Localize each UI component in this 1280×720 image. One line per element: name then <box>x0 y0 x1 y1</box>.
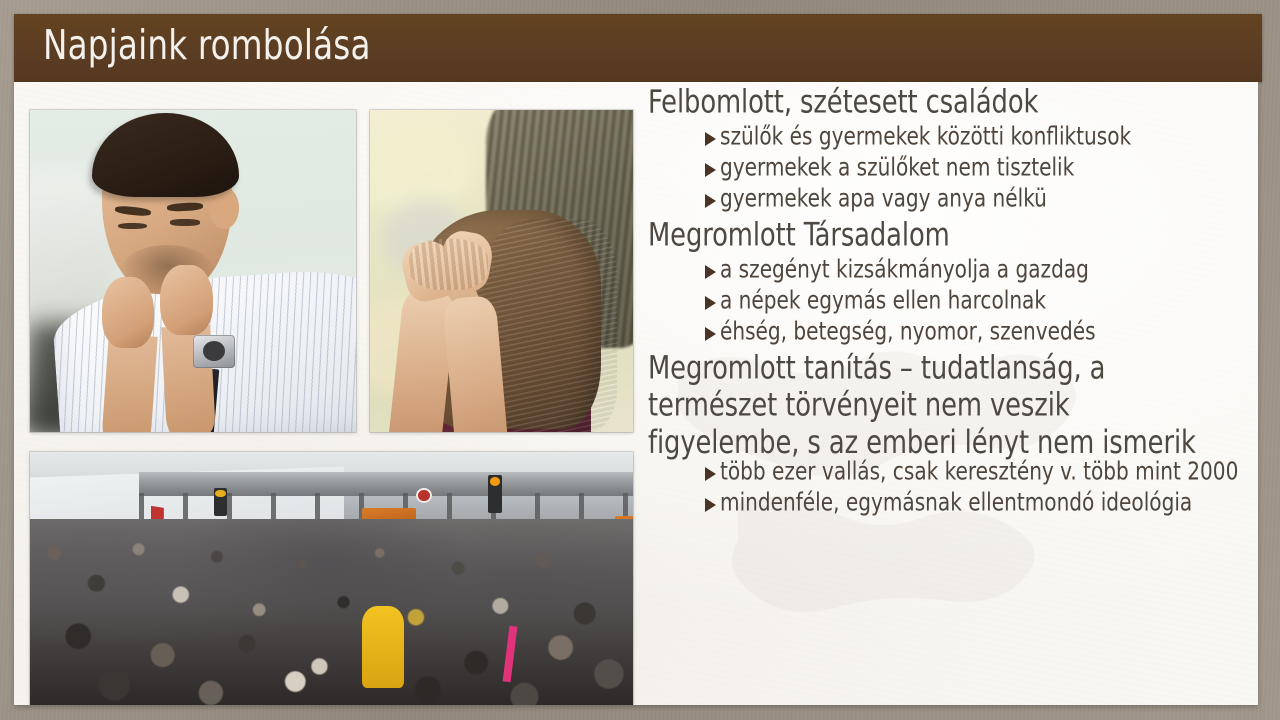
list-item: mindenféle, egymásnak ellentmondó ideoló… <box>648 487 1252 518</box>
bullet-text: éhség, betegség, nyomor, szenvedés <box>720 315 1096 348</box>
winter-crowd-photo: СТОП <box>30 452 633 705</box>
bullet-text: gyermekek a szülőket nem tisztelik <box>720 151 1074 184</box>
block-heading: Felbomlott, szétesett családok <box>648 84 1216 122</box>
triangle-bullet-icon <box>705 163 716 177</box>
triangle-bullet-icon <box>705 194 716 208</box>
list-item: éhség, betegség, nyomor, szenvedés <box>648 316 1252 347</box>
list-item: gyermekek a szülőket nem tisztelik <box>648 152 1252 183</box>
distressed-woman-photo <box>370 110 633 432</box>
triangle-bullet-icon <box>705 296 716 310</box>
page-title: Napjaink rombolása <box>43 22 371 70</box>
slide-content-area: СТОП Felbomlott, szétesett családok szül… <box>14 82 1258 705</box>
block-heading: Megromlott Társadalom <box>648 217 1216 255</box>
bullet-list: több ezer vallás, csak keresztény v. töb… <box>648 456 1252 518</box>
bullet-text: a szegényt kizsákmányolja a gazdag <box>720 253 1089 286</box>
content-block: Felbomlott, szétesett családok szülők és… <box>648 84 1252 214</box>
list-item: a szegényt kizsákmányolja a gazdag <box>648 254 1252 285</box>
eye-right <box>170 219 199 225</box>
bullet-list: a szegényt kizsákmányolja a gazdag a nép… <box>648 254 1252 347</box>
yellow-jacket-person <box>362 606 404 688</box>
triangle-bullet-icon <box>705 132 716 146</box>
traffic-light-icon <box>488 475 501 513</box>
fingers <box>409 239 488 291</box>
triangle-bullet-icon <box>705 467 716 481</box>
bullet-text: több ezer vallás, csak keresztény v. töb… <box>720 455 1238 488</box>
traffic-light-icon <box>214 488 227 516</box>
bullet-text: szülők és gyermekek közötti konfliktusok <box>720 120 1131 153</box>
bullet-text: gyermekek apa vagy anya nélkü <box>720 182 1047 215</box>
triangle-bullet-icon <box>705 498 716 512</box>
triangle-bullet-icon <box>705 327 716 341</box>
bullet-text: a népek egymás ellen harcolnak <box>720 284 1046 317</box>
slide: Napjaink rombolása <box>14 14 1262 705</box>
list-item: a népek egymás ellen harcolnak <box>648 285 1252 316</box>
bullet-text: mindenféle, egymásnak ellentmondó ideoló… <box>720 486 1192 519</box>
bullet-content-column: Felbomlott, szétesett családok szülők és… <box>648 84 1252 521</box>
list-item: gyermekek apa vagy anya nélkü <box>648 183 1252 214</box>
triangle-bullet-icon <box>705 265 716 279</box>
bullet-list: szülők és gyermekek közötti konfliktusok… <box>648 121 1252 214</box>
pensive-man-photo <box>30 110 356 432</box>
no-entry-sign <box>416 488 432 503</box>
eye-left <box>118 223 147 229</box>
forearm-left <box>101 334 157 432</box>
content-block: Megromlott Társadalom a szegényt kizsákm… <box>648 217 1252 347</box>
wristwatch <box>193 335 235 367</box>
slide-title-bar: Napjaink rombolása <box>14 14 1262 82</box>
content-block: Megromlott tanítás – tudatlanság, a term… <box>648 350 1252 518</box>
block-heading: Megromlott tanítás – tudatlanság, a term… <box>648 350 1216 461</box>
hair <box>92 113 239 197</box>
list-item: szülők és gyermekek közötti konfliktusok <box>648 121 1252 152</box>
fist-left <box>102 277 154 348</box>
fist-right <box>160 265 212 336</box>
crowd-heads <box>30 519 633 705</box>
list-item: több ezer vallás, csak keresztény v. töb… <box>648 456 1252 487</box>
